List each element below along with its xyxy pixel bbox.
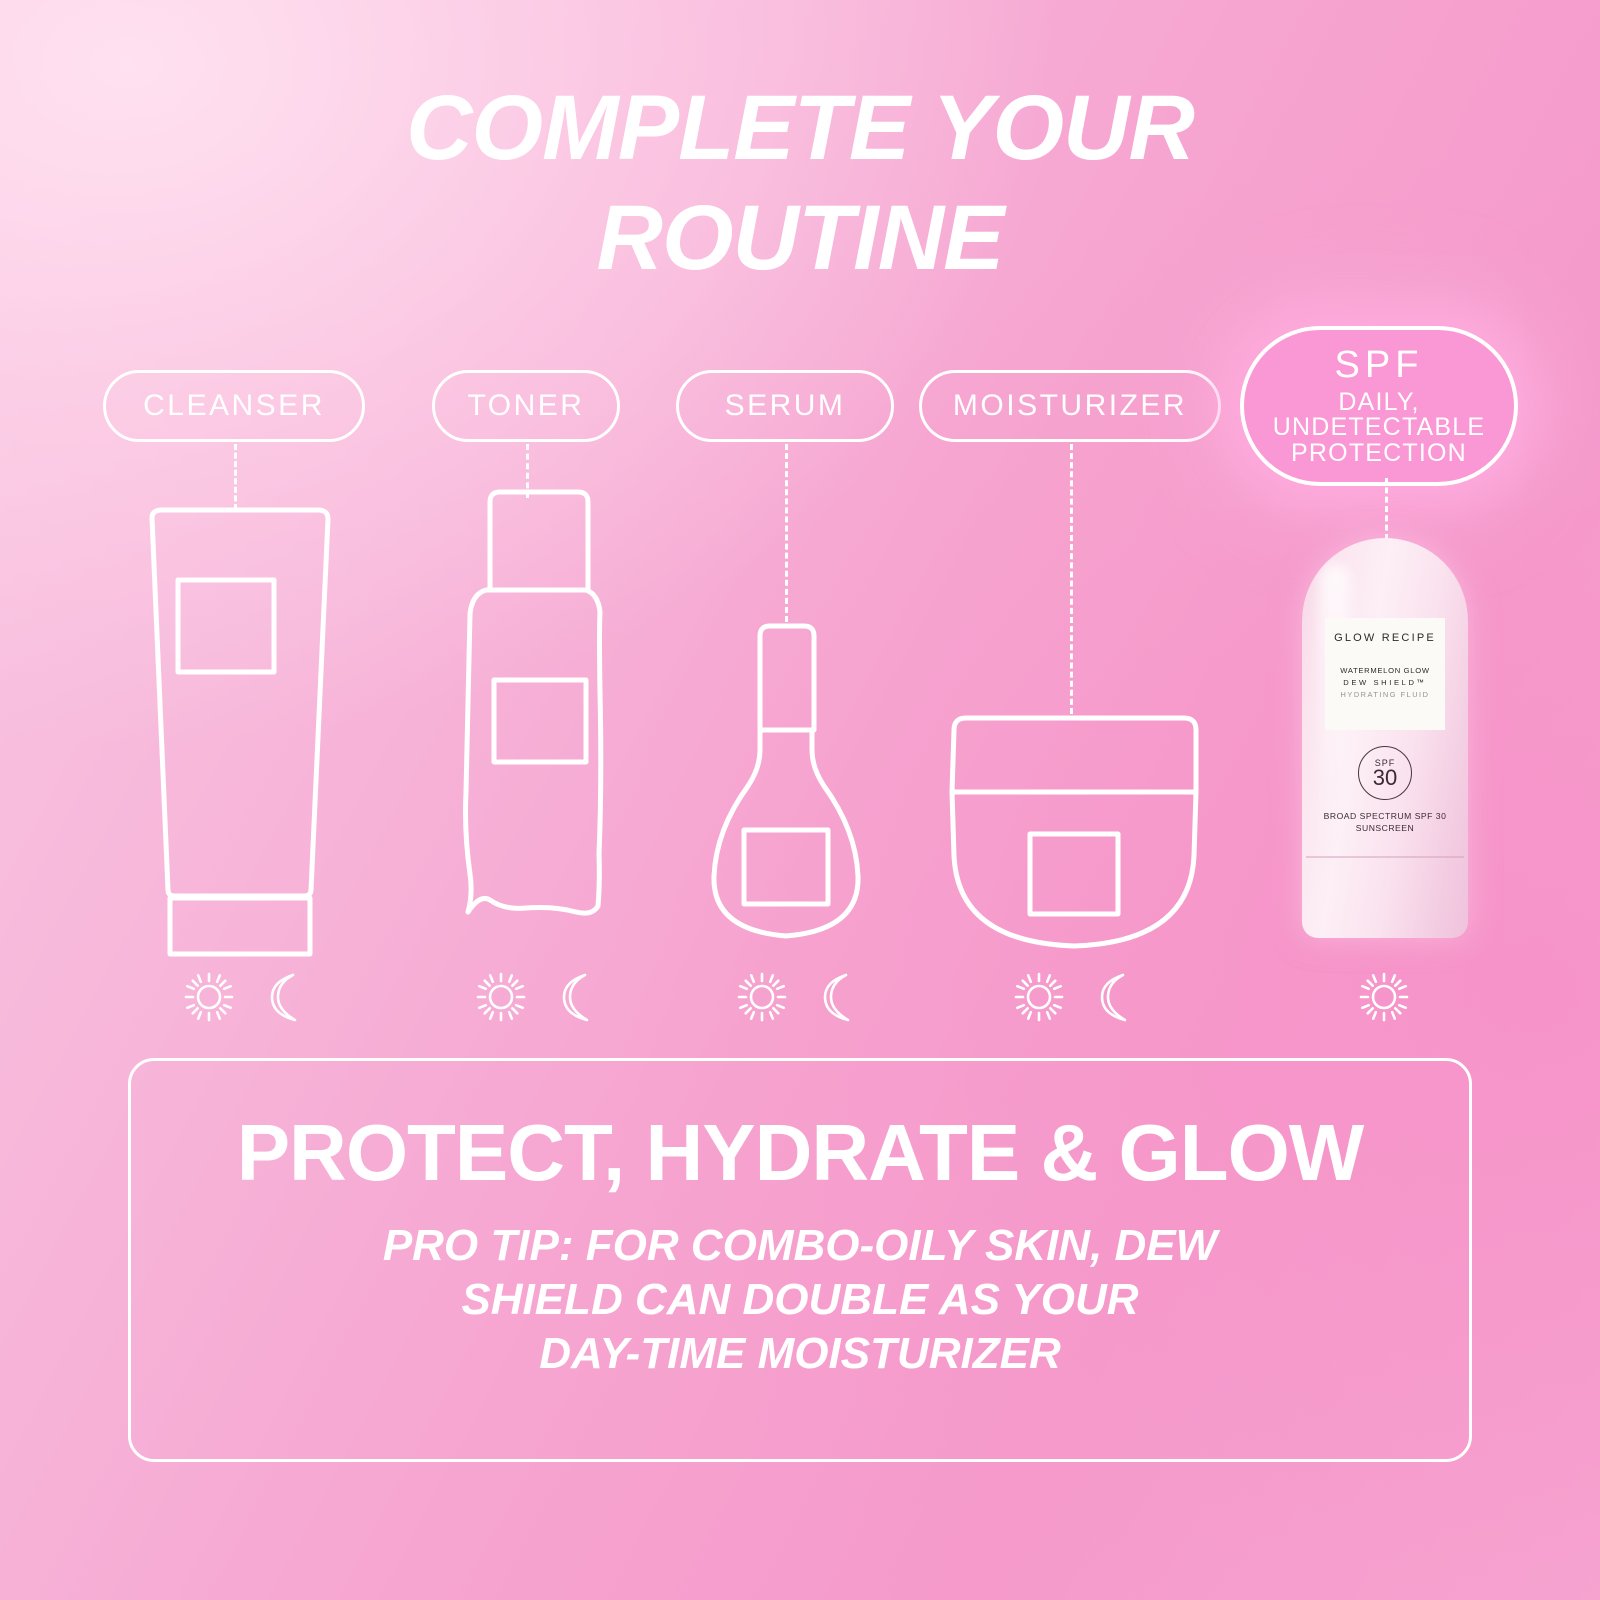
sun-icon xyxy=(735,970,789,1024)
toner-label-square xyxy=(494,680,586,762)
step-pill-toner[interactable]: TONER xyxy=(432,370,620,442)
bottle-seam xyxy=(1306,856,1464,858)
sun-icon xyxy=(182,970,236,1024)
step-pill-label: CLEANSER xyxy=(143,389,325,423)
step-pill-cleanser[interactable]: CLEANSER xyxy=(103,370,365,442)
title-line-1: COMPLETE YOUR xyxy=(406,77,1194,179)
usage-icons-moisturizer xyxy=(1012,962,1138,1032)
product-illustration-serum xyxy=(700,618,872,948)
routine-step-pills: CLEANSER TONER SERUM MOISTURIZER SPF DAI… xyxy=(0,370,1600,466)
sun-icon xyxy=(1012,970,1066,1024)
moisturizer-label-square xyxy=(1030,834,1118,914)
step-pill-spf[interactable]: SPF DAILY, UNDETECTABLE PROTECTION xyxy=(1240,326,1518,486)
page-title: COMPLETE YOUR ROUTINE xyxy=(0,84,1600,283)
bottle-footer-text: BROAD SPECTRUM SPF 30 SUNSCREEN xyxy=(1302,810,1468,835)
spf-pill-title: SPF xyxy=(1335,346,1424,384)
usage-icons-toner xyxy=(474,962,600,1032)
step-pill-label: MOISTURIZER xyxy=(953,389,1187,423)
step-pill-moisturizer[interactable]: MOISTURIZER xyxy=(919,370,1221,442)
moon-icon xyxy=(262,970,308,1024)
bottle-label: GLOW RECIPE WATERMELON GLOW DEW SHIELD™ … xyxy=(1325,618,1445,730)
usage-icons-spf xyxy=(1357,962,1411,1032)
bottle-product-line-2: DEW SHIELD™ xyxy=(1343,678,1426,687)
bottle-footer-line-1: BROAD SPECTRUM SPF 30 xyxy=(1302,810,1468,822)
connector-spf xyxy=(1385,478,1388,540)
bottle-brand-name: GLOW RECIPE xyxy=(1334,632,1436,644)
footer-protip-line-1: PRO TIP: FOR COMBO-OILY SKIN, DEW xyxy=(383,1219,1217,1273)
step-pill-serum[interactable]: SERUM xyxy=(676,370,894,442)
moon-icon xyxy=(1092,970,1138,1024)
product-illustration-cleanser xyxy=(130,500,350,960)
footer-protip-line-2: SHIELD CAN DOUBLE AS YOUR xyxy=(383,1273,1217,1327)
step-pill-label: SERUM xyxy=(725,389,846,423)
spf-pill-subtitle-line-3: PROTECTION xyxy=(1273,441,1486,467)
spf-pill-subtitle-line-1: DAILY, xyxy=(1273,390,1486,416)
sun-icon xyxy=(474,970,528,1024)
cleanser-label-square xyxy=(178,580,274,672)
moon-icon xyxy=(815,970,861,1024)
product-illustration-toner xyxy=(450,482,630,952)
bottle-spf-badge: SPF 30 xyxy=(1358,746,1412,800)
moon-icon xyxy=(554,970,600,1024)
usage-icons-cleanser xyxy=(182,962,308,1032)
connector-serum xyxy=(785,444,788,622)
bottle-product-line-3: HYDRATING FLUID xyxy=(1341,690,1430,699)
sun-icon xyxy=(1357,970,1411,1024)
spf-pill-subtitle-line-2: UNDETECTABLE xyxy=(1273,415,1486,441)
product-photo-dew-shield: GLOW RECIPE WATERMELON GLOW DEW SHIELD™ … xyxy=(1302,538,1468,938)
bottle-product-line-1: WATERMELON GLOW xyxy=(1340,666,1429,675)
bottle-spf-badge-value: 30 xyxy=(1373,767,1397,789)
footer-protip-line-3: DAY-TIME MOISTURIZER xyxy=(383,1327,1217,1381)
footer-callout-box: PROTECT, HYDRATE & GLOW PRO TIP: FOR COM… xyxy=(128,1058,1472,1462)
footer-headline: PROTECT, HYDRATE & GLOW xyxy=(237,1113,1364,1193)
serum-label-square xyxy=(744,830,828,904)
usage-icons-serum xyxy=(735,962,861,1032)
footer-protip: PRO TIP: FOR COMBO-OILY SKIN, DEW SHIELD… xyxy=(383,1219,1217,1381)
bottle-footer-line-2: SUNSCREEN xyxy=(1302,822,1468,834)
step-pill-label: TONER xyxy=(468,389,585,423)
title-line-2: ROUTINE xyxy=(0,194,1600,282)
connector-moisturizer xyxy=(1070,444,1073,714)
product-illustration-moisturizer xyxy=(940,706,1208,954)
infographic-canvas: COMPLETE YOUR ROUTINE CLEANSER TONER SER… xyxy=(0,0,1600,1600)
